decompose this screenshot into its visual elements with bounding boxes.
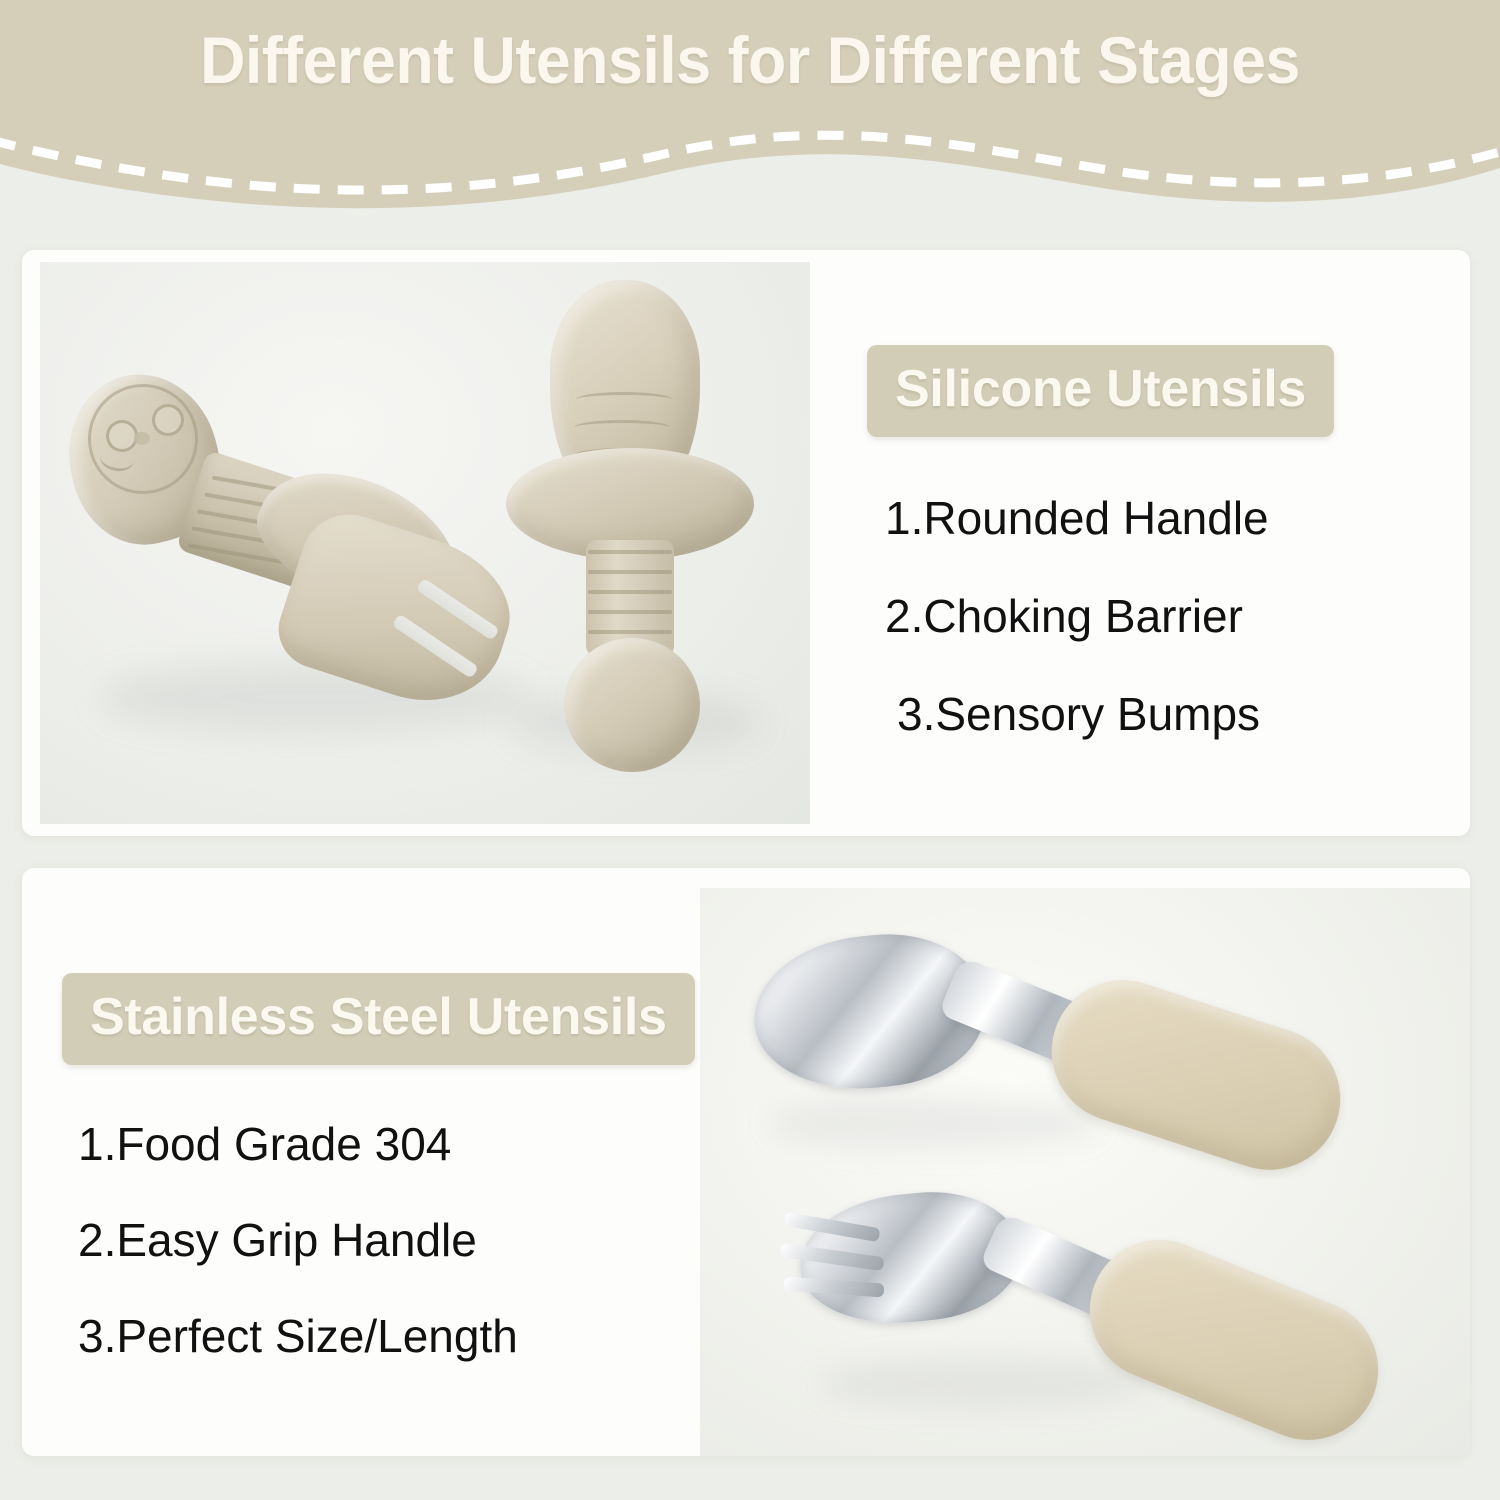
list-item: 2.Choking Barrier bbox=[867, 593, 1447, 639]
steel-spoon bbox=[730, 918, 1400, 1178]
silicone-section-card: Silicone Utensils 1.Rounded Handle 2.Cho… bbox=[22, 250, 1470, 836]
list-item: 1.Rounded Handle bbox=[867, 495, 1447, 541]
spoon-ridge bbox=[588, 630, 672, 634]
stainless-steel-section-card: Stainless Steel Utensils 1.Food Grade 30… bbox=[22, 868, 1470, 1456]
steel-text-panel: Stainless Steel Utensils 1.Food Grade 30… bbox=[62, 973, 662, 1409]
steel-feature-list: 1.Food Grade 304 2.Easy Grip Handle 3.Pe… bbox=[62, 1121, 662, 1359]
list-item: 3.Sensory Bumps bbox=[867, 691, 1447, 737]
spoon-ridge bbox=[588, 550, 672, 554]
sensory-bump-wave bbox=[576, 392, 672, 407]
list-item: 3.Perfect Size/Length bbox=[62, 1313, 662, 1359]
fork-face-nose bbox=[134, 432, 150, 445]
stainless-steel-utensils-photo bbox=[700, 888, 1470, 1456]
list-item: 2.Easy Grip Handle bbox=[62, 1217, 662, 1263]
fork-face-eye-right bbox=[152, 404, 184, 436]
spoon-handle-ball bbox=[564, 638, 700, 772]
steel-fork bbox=[778, 1164, 1448, 1454]
spoon-ridge bbox=[588, 590, 672, 594]
list-item: 1.Food Grade 304 bbox=[62, 1121, 662, 1167]
spoon-ridge bbox=[588, 570, 672, 574]
silicone-fork bbox=[60, 322, 530, 752]
sensory-bump-wave bbox=[574, 420, 670, 435]
silicone-feature-list: 1.Rounded Handle 2.Choking Barrier 3.Sen… bbox=[867, 495, 1447, 737]
page-title: Different Utensils for Different Stages bbox=[38, 22, 1463, 98]
silicone-utensils-photo bbox=[40, 262, 810, 824]
fork-silicone-handle bbox=[1069, 1219, 1400, 1456]
spoon-ridge bbox=[588, 610, 672, 614]
stainless-steel-badge: Stainless Steel Utensils bbox=[62, 973, 695, 1065]
silicone-spoon bbox=[480, 272, 780, 772]
header-banner: Different Utensils for Different Stages bbox=[0, 0, 1500, 230]
silicone-text-panel: Silicone Utensils 1.Rounded Handle 2.Cho… bbox=[867, 345, 1447, 789]
spoon-silicone-handle bbox=[1033, 962, 1358, 1189]
silicone-badge: Silicone Utensils bbox=[867, 345, 1334, 437]
